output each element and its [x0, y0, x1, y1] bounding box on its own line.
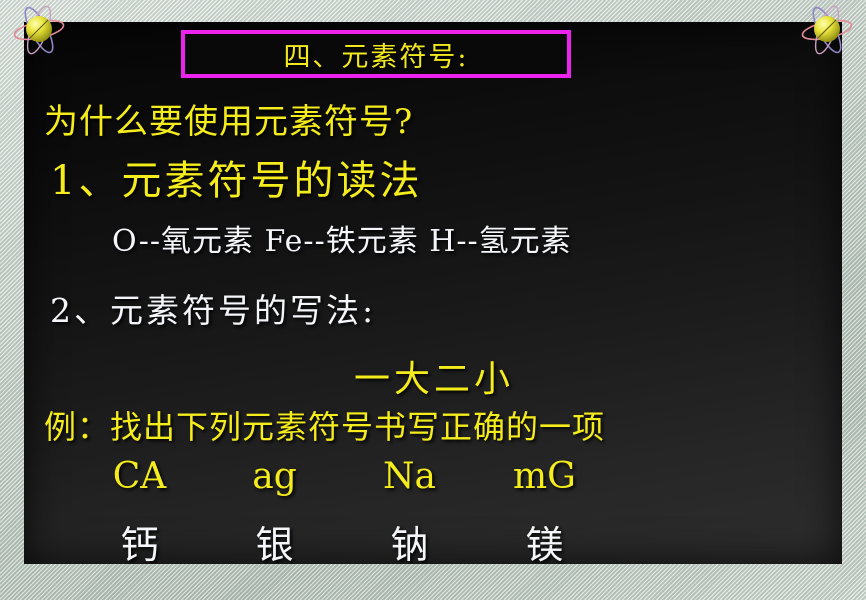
line-symbol-examples: O--氧元素 Fe--铁元素 H--氢元素: [112, 216, 572, 260]
line-reading-heading: 1、元素符号的读法: [50, 148, 422, 206]
slide-canvas: 四、元素符号: 为什么要使用元素符号? 1、元素符号的读法 O--氧元素 Fe-…: [24, 22, 842, 564]
line-example-prompt: 例：找出下列元素符号书写正确的一项: [44, 402, 605, 448]
quiz-name-row: 钙 银 钠 镁: [72, 514, 612, 564]
line-writing-rule: 一大二小: [354, 350, 514, 402]
line-writing-heading: 2、元素符号的写法:: [50, 284, 376, 332]
page-title: 四、元素符号:: [283, 35, 468, 74]
quiz-element-name: 镁: [477, 514, 612, 564]
quiz-element-name: 钠: [342, 514, 477, 564]
line-why-use-symbols: 为什么要使用元素符号?: [44, 94, 413, 143]
quiz-symbol[interactable]: CA: [72, 456, 207, 497]
quiz-symbol[interactable]: mG: [477, 456, 612, 497]
slide-title-box: 四、元素符号:: [181, 30, 571, 78]
quiz-symbol-row: CA ag Na mG: [72, 456, 612, 497]
quiz-symbol[interactable]: Na: [342, 456, 477, 497]
quiz-symbol[interactable]: ag: [207, 456, 342, 497]
quiz-element-name: 银: [207, 514, 342, 564]
quiz-element-name: 钙: [72, 514, 207, 564]
slide-root: 四、元素符号: 为什么要使用元素符号? 1、元素符号的读法 O--氧元素 Fe-…: [0, 0, 866, 600]
